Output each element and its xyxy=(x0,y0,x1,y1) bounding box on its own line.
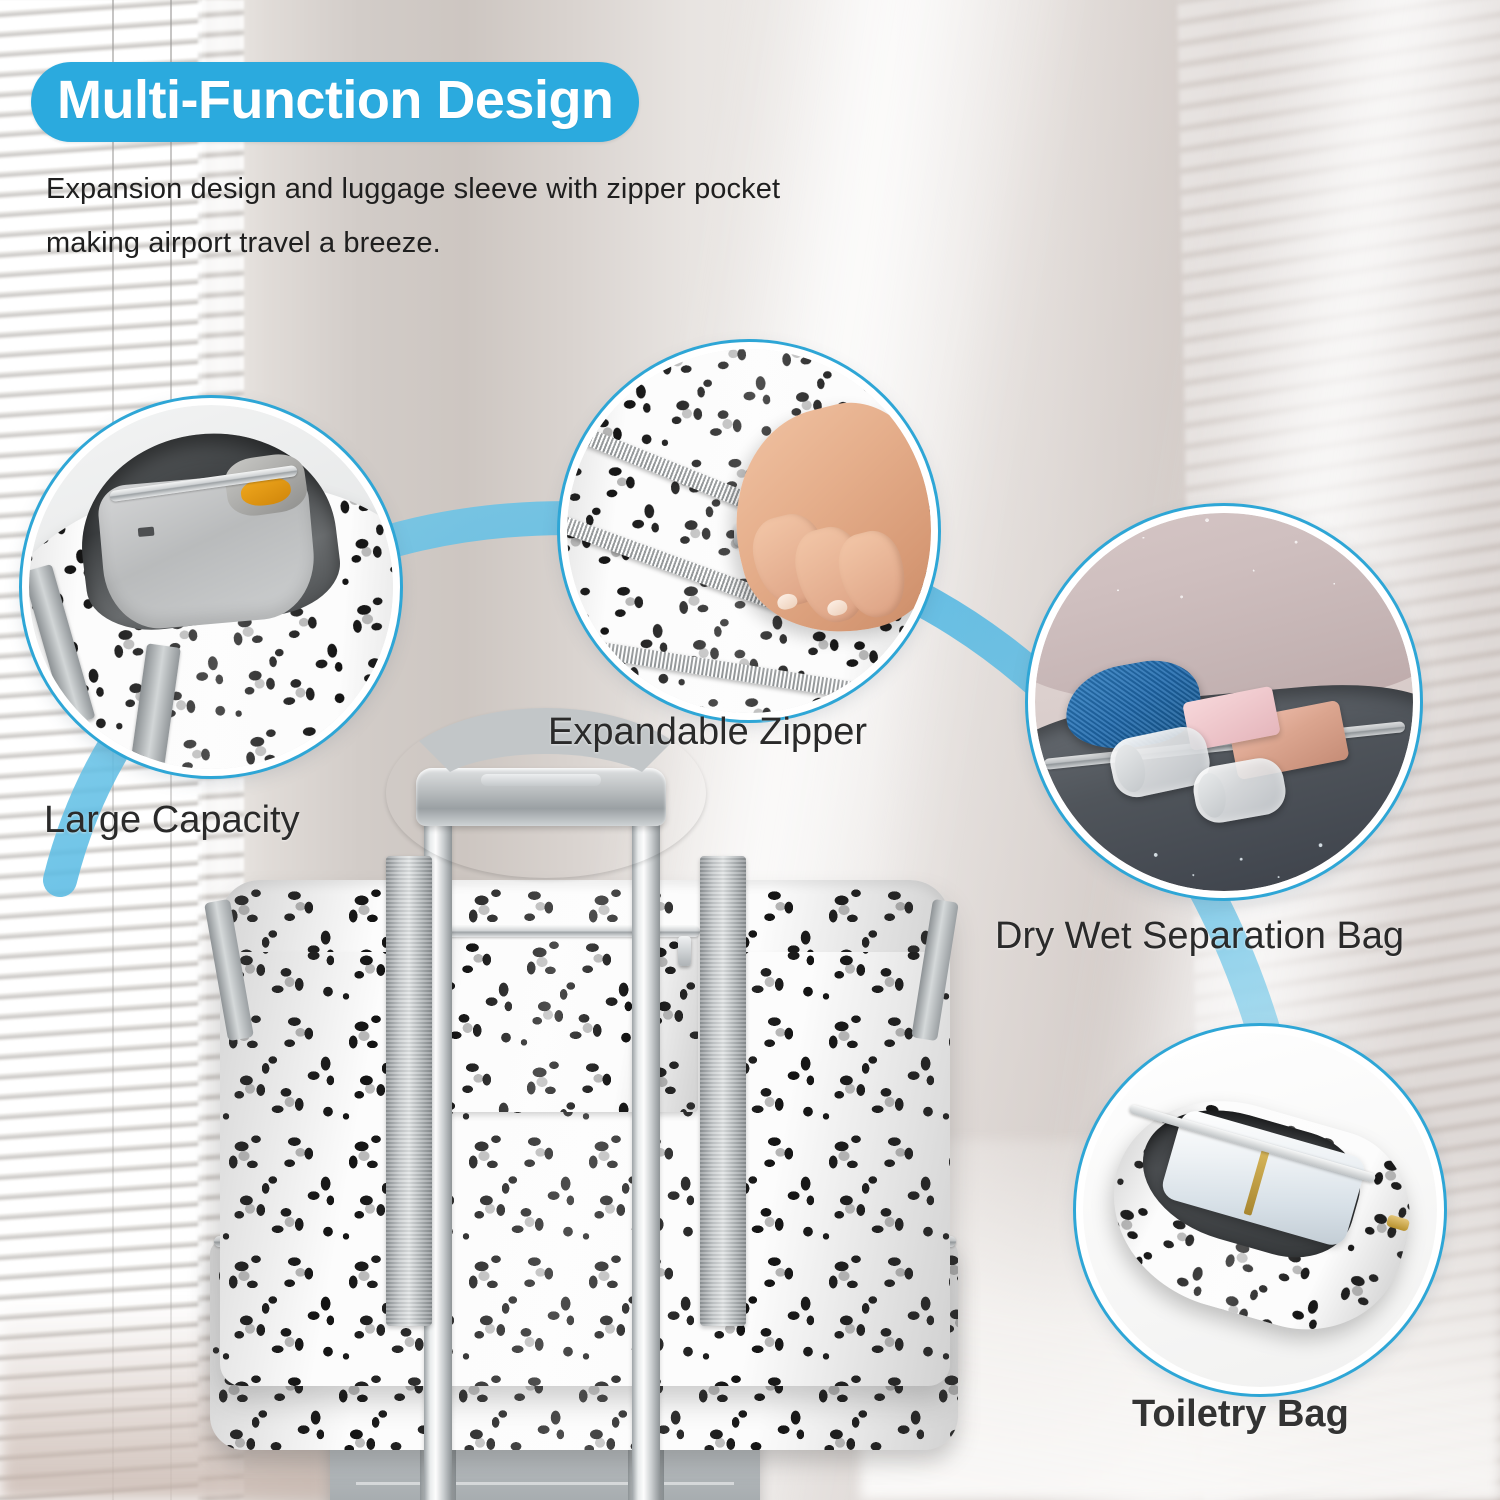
feature-bubble-dry-wet-separation xyxy=(1028,506,1420,898)
subtitle-line-1: Expansion design and luggage sleeve with… xyxy=(46,162,946,216)
infographic-stage: Large Capacity Expandable Zipper xyxy=(0,0,1500,1500)
expandable-zipper-photo xyxy=(567,349,931,713)
bag-handle-left xyxy=(386,856,432,1326)
bag-upper-fabric xyxy=(1035,513,1413,702)
hero-product-image xyxy=(180,760,980,1500)
title-banner: Multi-Function Design xyxy=(31,62,639,142)
large-capacity-photo xyxy=(29,405,393,769)
dry-wet-separation-photo xyxy=(1035,513,1413,891)
caption-expandable-zipper: Expandable Zipper xyxy=(548,712,867,754)
caption-dry-wet-separation: Dry Wet Separation Bag xyxy=(995,916,1404,958)
sleeve-zipper-pull xyxy=(678,936,691,966)
caption-toiletry-bag: Toiletry Bag xyxy=(1132,1394,1349,1436)
page-title: Multi-Function Design xyxy=(57,73,613,127)
feature-bubble-expandable-zipper xyxy=(560,342,938,720)
toiletry-bag-photo xyxy=(1083,1033,1437,1387)
subtitle-line-2: making airport travel a breeze. xyxy=(46,216,946,270)
feature-bubble-large-capacity xyxy=(22,398,400,776)
caption-large-capacity: Large Capacity xyxy=(44,800,300,842)
bag-handle-right xyxy=(700,856,746,1326)
trolley-arm-right xyxy=(632,812,660,1500)
subtitle-block: Expansion design and luggage sleeve with… xyxy=(46,162,946,270)
feature-bubble-toiletry-bag xyxy=(1076,1026,1444,1394)
